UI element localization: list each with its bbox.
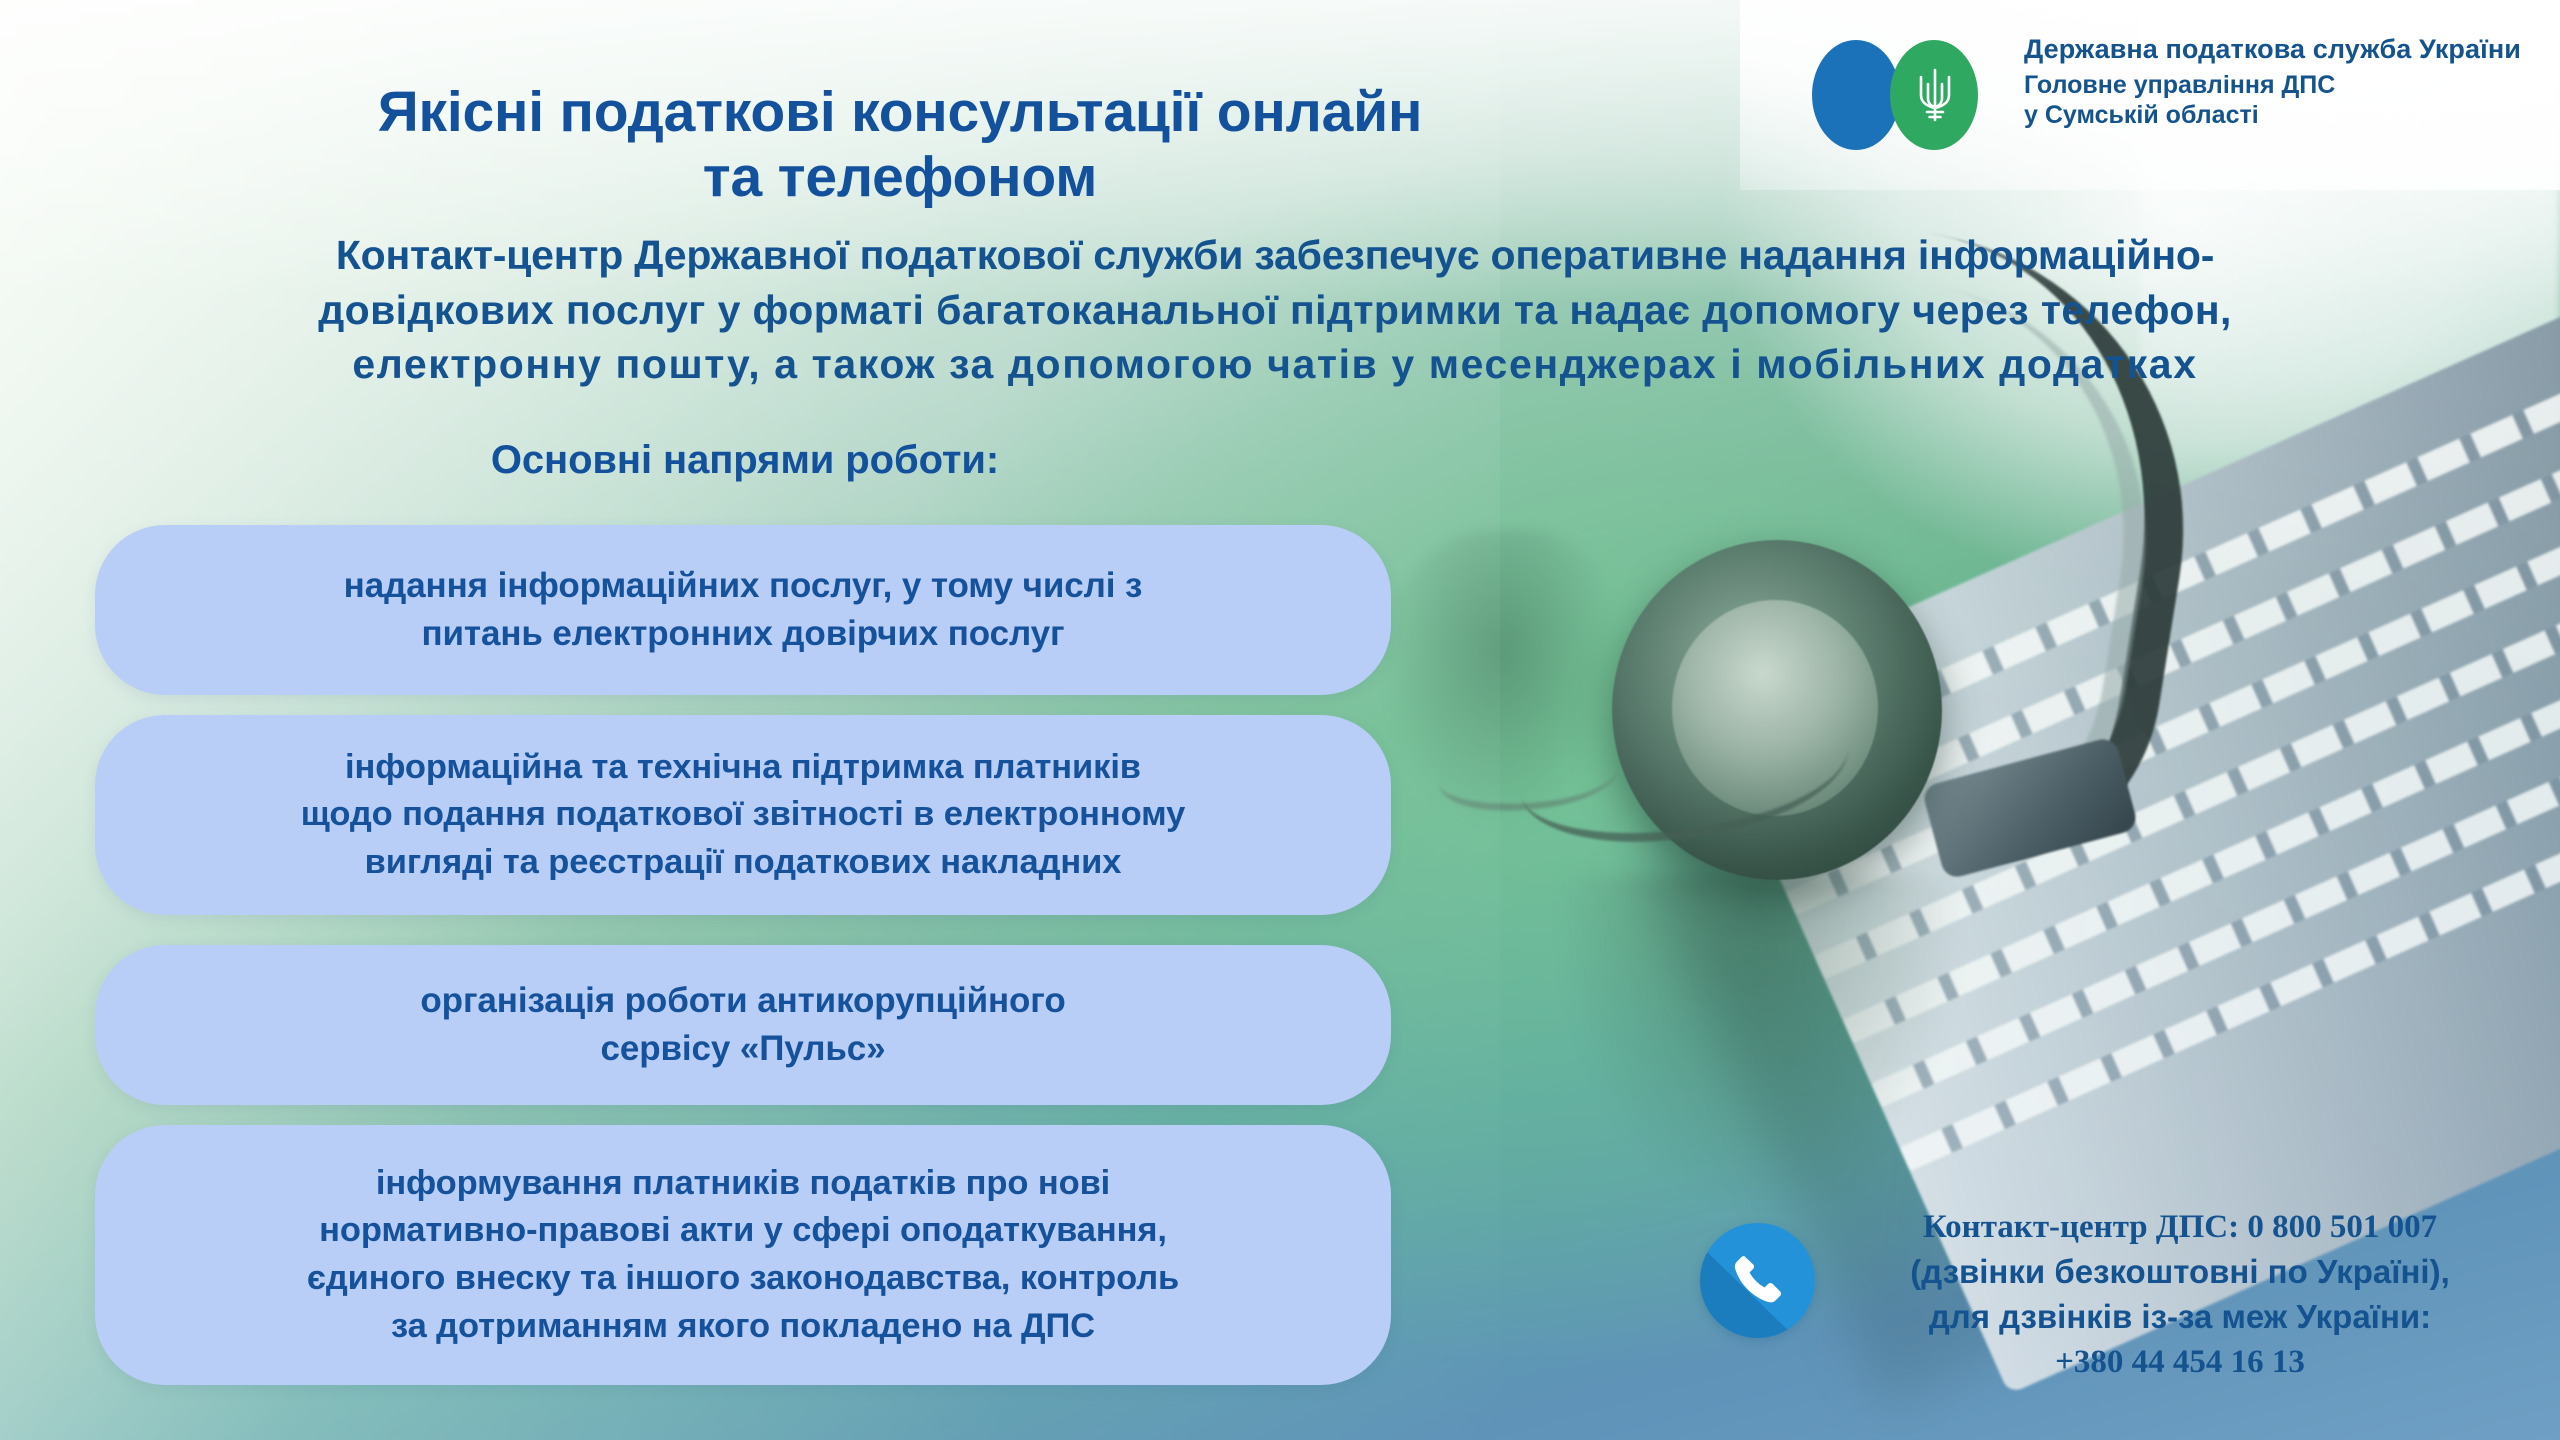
direction-bubble-4: інформування платників податків про нові… [95, 1125, 1391, 1385]
section-title: Основні напрями роботи: [95, 438, 1395, 483]
bubble-1-line-1: надання інформаційних послуг, у тому чис… [344, 566, 1143, 605]
logo-text: Державна податкова служба України Головн… [2024, 34, 2521, 131]
direction-bubble-2-text: інформаційна та технічна підтримка платн… [259, 744, 1227, 887]
bubble-2-line-2: щодо подання податкової звітності в елек… [301, 795, 1185, 833]
poster-canvas: Державна податкова служба України Головн… [0, 0, 2560, 1440]
trident-icon [1915, 64, 1955, 126]
contact-line-2: (дзвінки безкоштовні по Україні), [1835, 1250, 2525, 1295]
logo-blue-circle-icon [1812, 40, 1900, 150]
page-title-line-1: Якісні податкові консультації онлайн [378, 80, 1422, 144]
lead-paragraph: Контакт-центр Державної податкової служб… [110, 228, 2440, 392]
bubble-4-line-3: єдиного внеску та іншого законодавства, … [307, 1259, 1179, 1297]
bubble-1-line-2: питань електронних довірчих послуг [421, 614, 1064, 653]
bubble-4-line-1: інформування платників податків про нові [376, 1164, 1110, 1202]
bubble-3-line-1: організація роботи антикорупційного [420, 981, 1065, 1020]
direction-bubble-3: організація роботи антикорупційного серв… [95, 945, 1391, 1105]
bubble-4-line-4: за дотриманням якого покладено на ДПС [391, 1307, 1095, 1345]
contact-line-1[interactable]: Контакт-центр ДПС: 0 800 501 007 [1835, 1205, 2525, 1250]
logo-line-2: Головне управління ДПС [2024, 70, 2521, 101]
direction-bubble-1-text: надання інформаційних послуг, у тому чис… [302, 562, 1185, 659]
phone-icon [1700, 1223, 1815, 1338]
bubble-2-line-3: вигляді та реєстрації податкових накладн… [365, 843, 1122, 881]
contact-text: Контакт-центр ДПС: 0 800 501 007 (дзвінк… [1835, 1205, 2525, 1385]
page-title-line-2: та телефоном [190, 145, 1610, 210]
direction-bubble-1: надання інформаційних послуг, у тому чис… [95, 525, 1391, 695]
organisation-logo: Державна податкова служба України Головн… [1812, 34, 2521, 150]
direction-bubble-2: інформаційна та технічна підтримка платн… [95, 715, 1391, 915]
contact-block: Контакт-центр ДПС: 0 800 501 007 (дзвінк… [1700, 1205, 2540, 1385]
page-title: Якісні податкові консультації онлайн та … [190, 80, 1610, 210]
bubble-3-line-2: сервісу «Пульс» [600, 1029, 885, 1068]
lead-line-2: довідкових послуг у форматі багатоканаль… [110, 283, 2440, 338]
logo-line-3: у Сумській області [2024, 100, 2521, 131]
logo-marks [1812, 40, 2002, 150]
direction-bubble-3-text: організація роботи антикорупційного серв… [378, 977, 1107, 1074]
contact-line-4[interactable]: +380 44 454 16 13 [1835, 1340, 2525, 1385]
bubble-4-line-2: нормативно-правові акти у сфері оподатку… [319, 1211, 1167, 1249]
lead-line-3: електронну пошту, а також за допомогою ч… [110, 337, 2440, 392]
logo-line-1: Державна податкова служба України [2024, 34, 2521, 65]
direction-bubble-4-text: інформування платників податків про нові… [265, 1160, 1221, 1350]
headset-reflection [1560, 875, 1960, 1205]
phone-handset-glyph [1728, 1250, 1788, 1310]
contact-line-3: для дзвінків із-за меж України: [1835, 1295, 2525, 1340]
lead-line-1: Контакт-центр Державної податкової служб… [110, 228, 2440, 283]
bubble-2-line-1: інформаційна та технічна підтримка платн… [345, 748, 1141, 786]
